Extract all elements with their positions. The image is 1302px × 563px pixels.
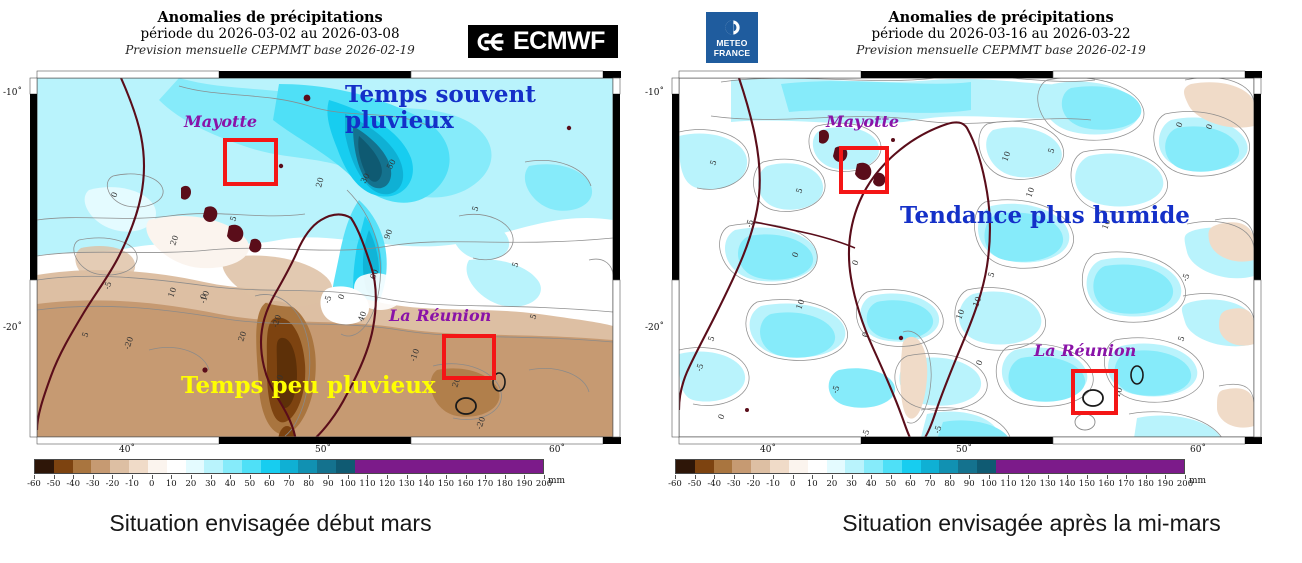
ecmwf-mark-icon [474, 31, 512, 53]
caption-right: Situation envisagée après la mi-mars [706, 510, 1302, 537]
panel-left-model-note: Prevision mensuelle CEPMMT base 2026-02-… [100, 44, 440, 57]
panel-left-titleblock: Anomalies de précipitations période du 2… [100, 10, 440, 58]
colorbar-tick-label: 140 [418, 479, 434, 489]
colorbar-tick-label: 70 [925, 479, 936, 489]
panel-right: METEO FRANCE Anomalies de précipitations… [651, 0, 1302, 563]
lon-label-40: 40˚ [760, 445, 776, 455]
colorbar-tick-label: -40 [707, 479, 721, 489]
colorbar-bar [34, 459, 544, 474]
colorbar-tick-label: 120 [1020, 479, 1036, 489]
figure-root: Anomalies de précipitations période du 2… [0, 0, 1302, 563]
colorbar-tick-label: 0 [790, 479, 795, 489]
lon-label-40: 40˚ [119, 445, 135, 455]
lat-label-minus10: -10˚ [645, 88, 664, 98]
colorbar-tick-label: -20 [747, 479, 761, 489]
colorbar-tick-label: 160 [1098, 479, 1114, 489]
highlight-box-mayotte [839, 146, 889, 194]
caption-left: Situation envisagée début mars [0, 510, 596, 537]
lat-label-minus20: -20˚ [3, 323, 22, 333]
map-right-svg: 5 5 0 10 5 -5 0 -5 -5 0 -5 -5 10 -10 [671, 70, 1262, 445]
colorbar-tick-label: 120 [379, 479, 395, 489]
lon-label-50: 50˚ [956, 445, 972, 455]
panel-right-header: METEO FRANCE Anomalies de précipitations… [651, 4, 1302, 66]
ecmwf-logo-text: ECMWF [513, 29, 605, 54]
colorbar-left: 40˚ 50˚ 60˚ [34, 459, 544, 499]
colorbar-tick-label: 190 [1157, 479, 1173, 489]
colorbar-tick-label: 110 [1000, 479, 1016, 489]
colorbar-tick-label: -50 [47, 479, 61, 489]
colorbar-tick-label: 200 [536, 479, 552, 489]
colorbar-tick-label: 150 [1079, 479, 1095, 489]
lat-label-minus20: -20˚ [645, 323, 664, 333]
colorbar-tick-label: 180 [1138, 479, 1154, 489]
colorbar-tick-label: 190 [516, 479, 532, 489]
colorbar-tick-label: 10 [807, 479, 818, 489]
colorbar-tick-label: -20 [106, 479, 120, 489]
colorbar-tick-label: 110 [359, 479, 375, 489]
lon-label-60: 60˚ [1190, 445, 1206, 455]
colorbar-tick-label: 170 [477, 479, 493, 489]
colorbar-tick-label: 130 [1040, 479, 1056, 489]
colorbar-tick-label: 100 [981, 479, 997, 489]
colorbar-tick-label: 80 [944, 479, 955, 489]
colorbar-tick-label: 170 [1118, 479, 1134, 489]
colorbar-tick-label: 60 [264, 479, 275, 489]
colorbar-tick-label: -10 [125, 479, 139, 489]
highlight-box-la-reunion [442, 334, 496, 380]
colorbar-tick-label: 0 [149, 479, 154, 489]
colorbar-tick-label: 180 [497, 479, 513, 489]
colorbar-tick-label: 10 [166, 479, 177, 489]
panel-right-model-note: Prevision mensuelle CEPMMT base 2026-02-… [801, 44, 1201, 57]
meteo-france-logo: METEO FRANCE [706, 12, 758, 63]
colorbar-tick-label: 50 [244, 479, 255, 489]
colorbar-tick-label: 200 [1177, 479, 1193, 489]
colorbar-tick-label: -60 [27, 479, 41, 489]
colorbar-tick-label: 40 [866, 479, 877, 489]
panel-left-title: Anomalies de précipitations [100, 10, 440, 26]
colorbar-tick-label: 70 [284, 479, 295, 489]
colorbar-tick-label: 90 [323, 479, 334, 489]
colorbar-tick-label: -40 [66, 479, 80, 489]
colorbar-tick-label: -50 [688, 479, 702, 489]
colorbar-tick-label: 90 [964, 479, 975, 489]
map-right[interactable]: 5 5 0 10 5 -5 0 -5 -5 0 -5 -5 10 -10 [671, 70, 1262, 445]
colorbar-tick-label: -30 [727, 479, 741, 489]
highlight-box-la-reunion [1071, 369, 1118, 415]
colorbar-tick-label: -10 [766, 479, 780, 489]
panel-left-header: Anomalies de précipitations période du 2… [0, 4, 651, 66]
map-left[interactable]: 0 20 10 0 5 20 30 50 90 60 40 -20 20 -10 [29, 70, 621, 445]
colorbar-tick-label: 130 [399, 479, 415, 489]
colorbar-ticks: -60-50-40-30-20-100102030405060708090100… [675, 475, 1185, 489]
colorbar-tick-label: 30 [205, 479, 216, 489]
colorbar-tick-label: -30 [86, 479, 100, 489]
lat-label-minus10: -10˚ [3, 88, 22, 98]
map-left-svg: 0 20 10 0 5 20 30 50 90 60 40 -20 20 -10 [29, 70, 621, 445]
meteo-france-logo-line2: FRANCE [714, 49, 751, 58]
panel-right-titleblock: Anomalies de précipitations période du 2… [801, 10, 1201, 58]
colorbar-tick-label: 30 [846, 479, 857, 489]
colorbar-tick-label: 20 [186, 479, 197, 489]
colorbar-tick-label: 150 [438, 479, 454, 489]
lon-label-60: 60˚ [549, 445, 565, 455]
colorbar-bar [675, 459, 1185, 474]
meteo-france-mark-icon [724, 19, 741, 36]
lon-label-50: 50˚ [315, 445, 331, 455]
panel-left: Anomalies de précipitations période du 2… [0, 0, 651, 563]
colorbar-tick-label: 40 [225, 479, 236, 489]
panel-right-period: période du 2026-03-16 au 2026-03-22 [801, 27, 1201, 42]
colorbar-tick-label: 140 [1059, 479, 1075, 489]
panel-right-title: Anomalies de précipitations [801, 10, 1201, 26]
colorbar-ticks: -60-50-40-30-20-100102030405060708090100… [34, 475, 544, 489]
panel-left-period: période du 2026-03-02 au 2026-03-08 [100, 27, 440, 42]
colorbar-tick-label: 160 [457, 479, 473, 489]
colorbar-tick-label: -60 [668, 479, 682, 489]
colorbar-tick-label: 60 [905, 479, 916, 489]
colorbar-tick-label: 100 [340, 479, 356, 489]
ecmwf-logo: ECMWF [468, 25, 618, 58]
colorbar-tick-label: 20 [827, 479, 838, 489]
colorbar-tick-label: 80 [303, 479, 314, 489]
colorbar-right: 40˚ 50˚ 60˚ [675, 459, 1185, 499]
colorbar-tick-label: 50 [885, 479, 896, 489]
highlight-box-mayotte [223, 138, 278, 186]
